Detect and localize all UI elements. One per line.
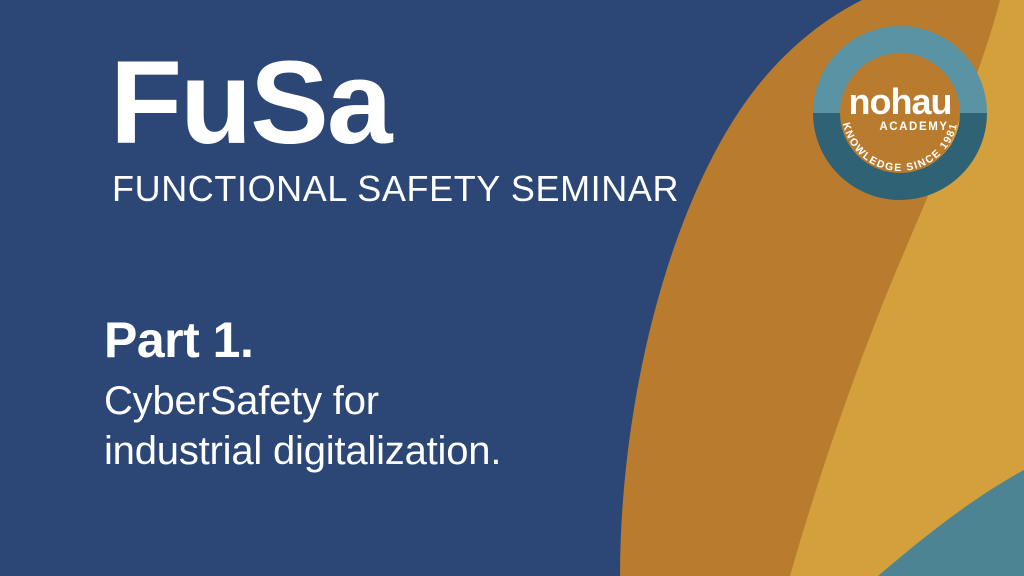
logo-sub-wordmark: ACADEMY — [879, 121, 948, 133]
slide-subtitle: FUNCTIONAL SAFETY SEMINAR — [112, 168, 679, 210]
nohau-academy-logo: nohau ACADEMY KNOWLEDGE SINCE 1981 — [813, 26, 987, 200]
description-line-1: CyberSafety for — [104, 376, 501, 426]
description-line-2: industrial digitalization. — [104, 426, 501, 476]
page-title: FuSa — [110, 44, 679, 162]
logo-wordmark: nohau — [849, 81, 952, 122]
part-label: Part 1. — [104, 312, 501, 368]
body-group: Part 1. CyberSafety for industrial digit… — [104, 312, 501, 476]
title-group: FuSa FUNCTIONAL SAFETY SEMINAR — [110, 44, 679, 210]
title-slide: FuSa FUNCTIONAL SAFETY SEMINAR Part 1. C… — [0, 0, 1024, 576]
